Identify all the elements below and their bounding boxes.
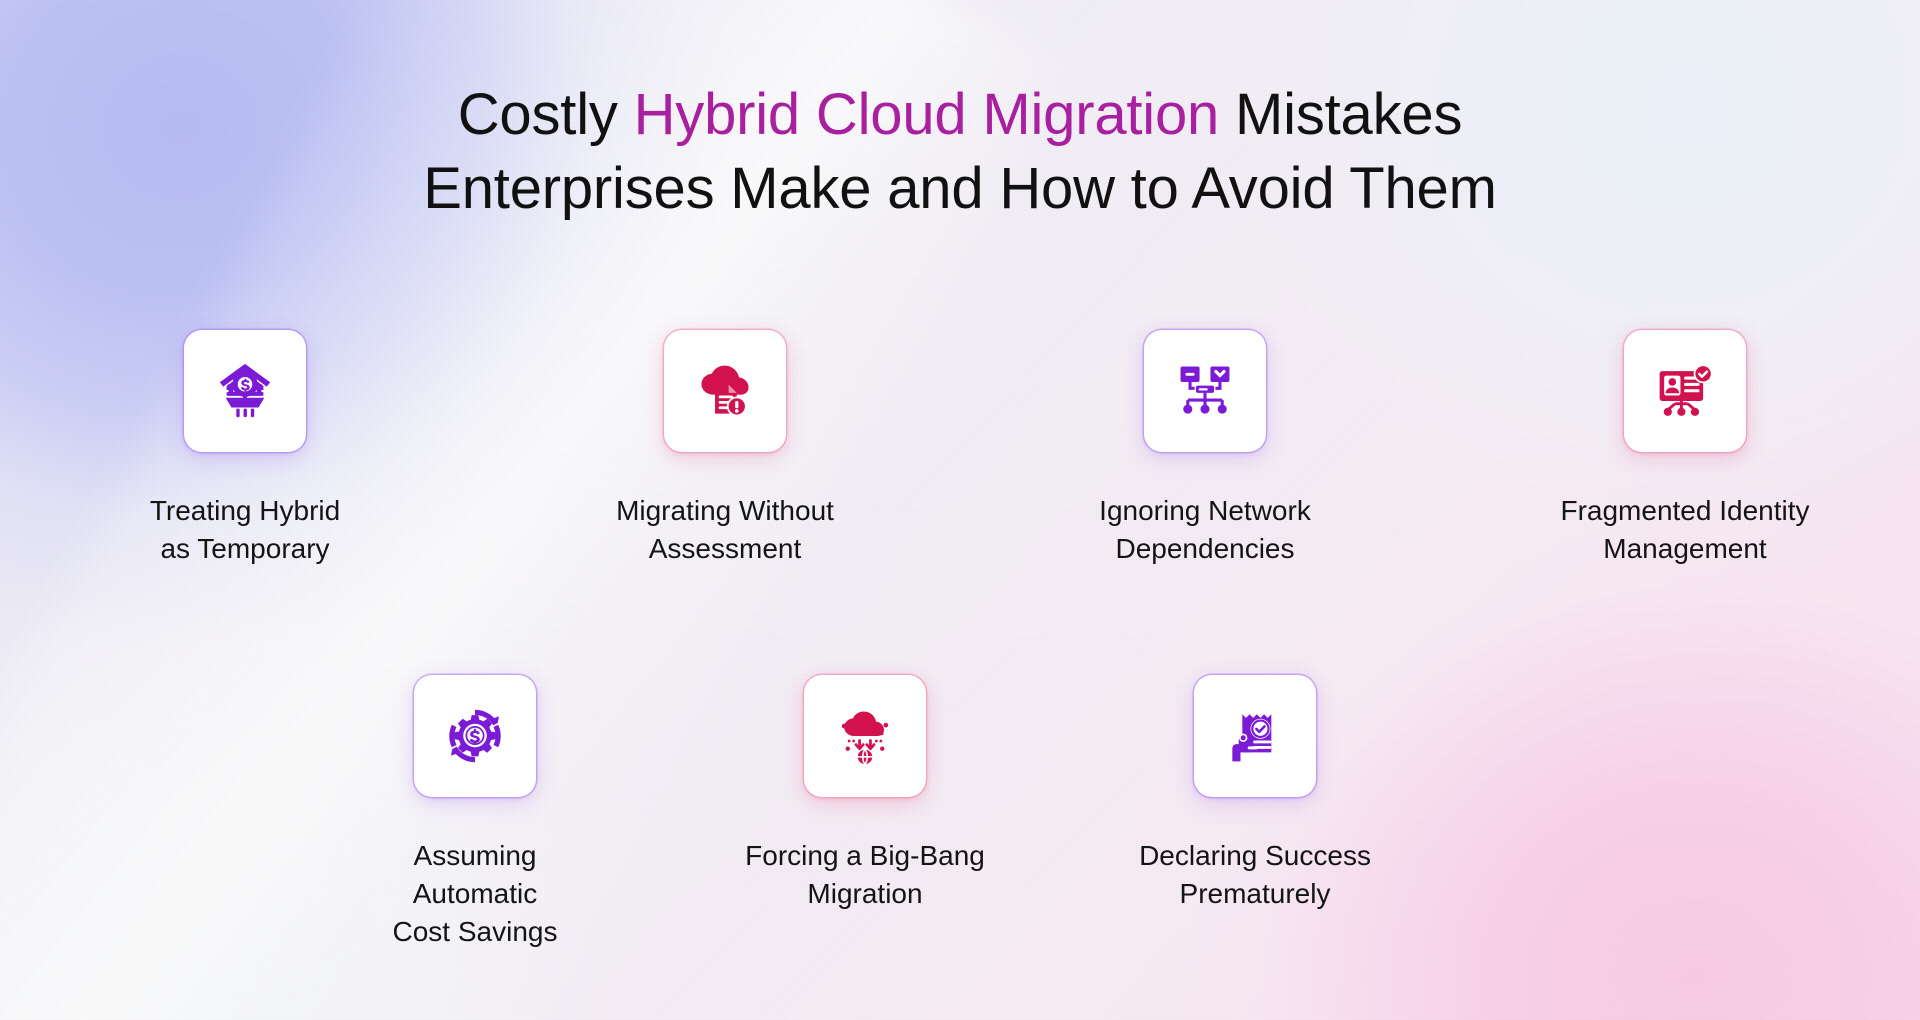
gear-dollar-refresh-icon	[446, 707, 504, 765]
icon-card-declaring-success-prematurely[interactable]	[1194, 675, 1316, 797]
icon-card-assuming-automatic-cost-savings[interactable]	[414, 675, 536, 797]
cloud-document-assessment-icon	[696, 362, 754, 420]
network-topology-nodes-icon	[1176, 362, 1234, 420]
item-ignoring-network-dependencies[interactable]: Ignoring Network Dependencies	[1080, 330, 1330, 568]
item-declaring-success-prematurely[interactable]: Declaring Success Prematurely	[1130, 675, 1380, 951]
icon-card-fragmented-identity-management[interactable]	[1624, 330, 1746, 452]
id-card-verified-icon	[1656, 362, 1714, 420]
item-forcing-a-big-bang-migration[interactable]: Forcing a Big-Bang Migration	[740, 675, 990, 951]
item-label: Migrating Without Assessment	[616, 492, 834, 568]
bank-building-gear-icon	[214, 360, 276, 422]
page-title-line-1: Costly Hybrid Cloud Migration Mistakes	[0, 78, 1920, 152]
page-title: Costly Hybrid Cloud Migration Mistakes E…	[0, 78, 1920, 226]
bottom-row: Assuming Automatic Cost Savings	[350, 675, 1380, 951]
icon-card-treating-hybrid-as-temporary[interactable]	[184, 330, 306, 452]
item-fragmented-identity-management[interactable]: Fragmented Identity Management	[1560, 330, 1810, 568]
page-title-line-1-prefix: Costly	[458, 82, 634, 147]
icon-card-ignoring-network-dependencies[interactable]	[1144, 330, 1266, 452]
item-label: Treating Hybrid as Temporary	[150, 492, 340, 568]
item-treating-hybrid-as-temporary[interactable]: Treating Hybrid as Temporary	[120, 330, 370, 568]
item-migrating-without-assessment[interactable]: Migrating Without Assessment	[600, 330, 850, 568]
page-title-accent-phrase: Hybrid Cloud Migration	[634, 82, 1220, 147]
item-label: Declaring Success Prematurely	[1139, 837, 1371, 913]
icon-card-migrating-without-assessment[interactable]	[664, 330, 786, 452]
infographic-content: Costly Hybrid Cloud Migration Mistakes E…	[0, 0, 1920, 1020]
item-label: Forcing a Big-Bang Migration	[745, 837, 985, 913]
cloud-arrows-globe-icon	[836, 707, 894, 765]
item-label: Ignoring Network Dependencies	[1099, 492, 1311, 568]
item-label: Fragmented Identity Management	[1560, 492, 1809, 568]
page-title-line-1-suffix: Mistakes	[1219, 82, 1462, 147]
hand-receipt-check-icon	[1226, 707, 1284, 765]
page-title-line-2: Enterprises Make and How to Avoid Them	[0, 152, 1920, 226]
item-assuming-automatic-cost-savings[interactable]: Assuming Automatic Cost Savings	[350, 675, 600, 951]
top-row: Treating Hybrid as Temporary	[120, 330, 1810, 568]
icon-card-forcing-a-big-bang-migration[interactable]	[804, 675, 926, 797]
item-label: Assuming Automatic Cost Savings	[350, 837, 600, 951]
